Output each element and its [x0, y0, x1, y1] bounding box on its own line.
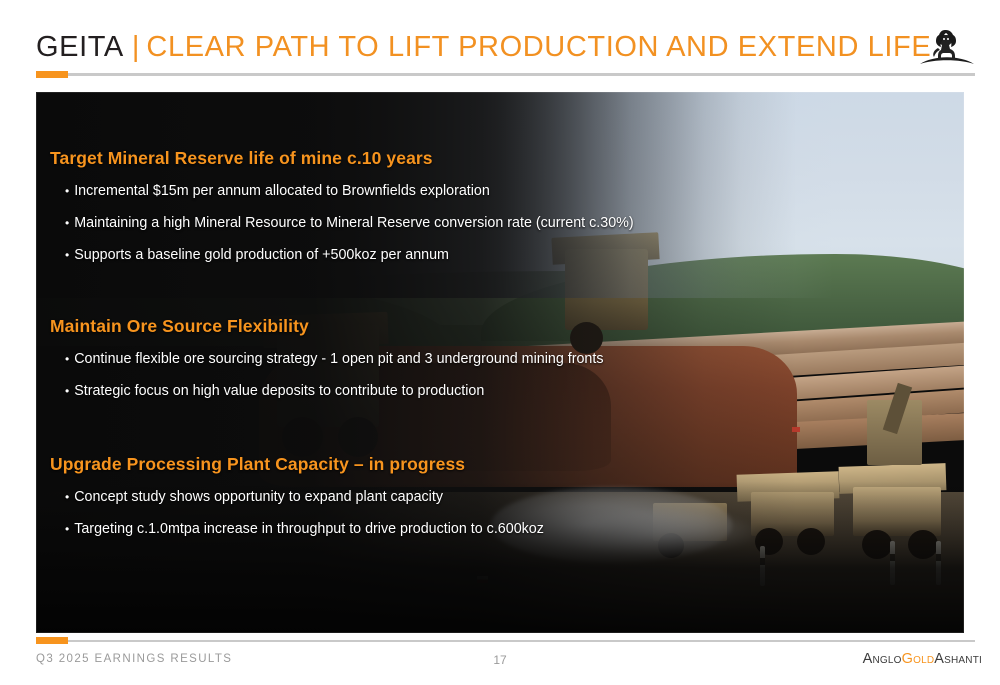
bullet-text: Concept study shows opportunity to expan…	[74, 489, 443, 507]
header-divider-accent	[36, 71, 68, 78]
bullet-item: • Incremental $15m per annum allocated t…	[50, 183, 634, 201]
header-divider-line	[36, 73, 975, 76]
footer-divider-line	[36, 640, 975, 642]
slide-header: GEITA | CLEAR PATH TO LIFT PRODUCTION AN…	[0, 0, 1000, 86]
bullet-item: • Concept study shows opportunity to exp…	[50, 489, 544, 507]
bullet-item: • Maintaining a high Mineral Resource to…	[50, 215, 634, 233]
bullet-item: • Supports a baseline gold production of…	[50, 247, 634, 265]
page-number: 17	[0, 653, 1000, 667]
slide-footer: Q3 2025 EARNINGS RESULTS 17 AngloGoldAsh…	[0, 633, 1000, 685]
bullet-glyph: •	[65, 521, 69, 538]
bullet-glyph: •	[65, 383, 69, 400]
slide-image-panel: Target Mineral Reserve life of mine c.10…	[36, 92, 964, 633]
footer-divider-accent	[36, 637, 68, 644]
content-section-3: Upgrade Processing Plant Capacity – in p…	[50, 454, 544, 539]
bullet-text: Maintaining a high Mineral Resource to M…	[74, 215, 633, 233]
section-heading: Upgrade Processing Plant Capacity – in p…	[50, 454, 544, 475]
lion-logo-icon	[916, 24, 978, 74]
bullet-glyph: •	[65, 351, 69, 368]
slide-content: Target Mineral Reserve life of mine c.10…	[36, 92, 964, 633]
section-heading: Maintain Ore Source Flexibility	[50, 316, 604, 337]
bullet-glyph: •	[65, 215, 69, 232]
page-title: GEITA | CLEAR PATH TO LIFT PRODUCTION AN…	[36, 31, 931, 64]
bullet-item: • Strategic focus on high value deposits…	[50, 383, 604, 401]
page-title-main: GEITA	[36, 31, 124, 64]
bullet-text: Continue flexible ore sourcing strategy …	[74, 351, 603, 369]
logo-text-ashanti: Ashanti	[934, 651, 982, 667]
logo-text-anglo: Anglo	[863, 651, 902, 667]
bullet-text: Incremental $15m per annum allocated to …	[74, 183, 490, 201]
bullet-text: Supports a baseline gold production of +…	[74, 247, 449, 265]
page-title-separator: |	[132, 31, 140, 64]
bullet-glyph: •	[65, 489, 69, 506]
section-heading: Target Mineral Reserve life of mine c.10…	[50, 148, 634, 169]
bullet-text: Targeting c.1.0mtpa increase in throughp…	[74, 521, 544, 539]
content-section-2: Maintain Ore Source Flexibility • Contin…	[50, 316, 604, 401]
bullet-item: • Continue flexible ore sourcing strateg…	[50, 351, 604, 369]
content-section-1: Target Mineral Reserve life of mine c.10…	[50, 148, 634, 265]
anglogold-ashanti-logo: AngloGoldAshanti	[863, 651, 982, 667]
page-title-subtitle: CLEAR PATH TO LIFT PRODUCTION AND EXTEND…	[146, 31, 931, 64]
logo-text-gold: Gold	[902, 651, 935, 667]
bullet-glyph: •	[65, 247, 69, 264]
bullet-item: • Targeting c.1.0mtpa increase in throug…	[50, 521, 544, 539]
bullet-glyph: •	[65, 183, 69, 200]
bullet-text: Strategic focus on high value deposits t…	[74, 383, 484, 401]
